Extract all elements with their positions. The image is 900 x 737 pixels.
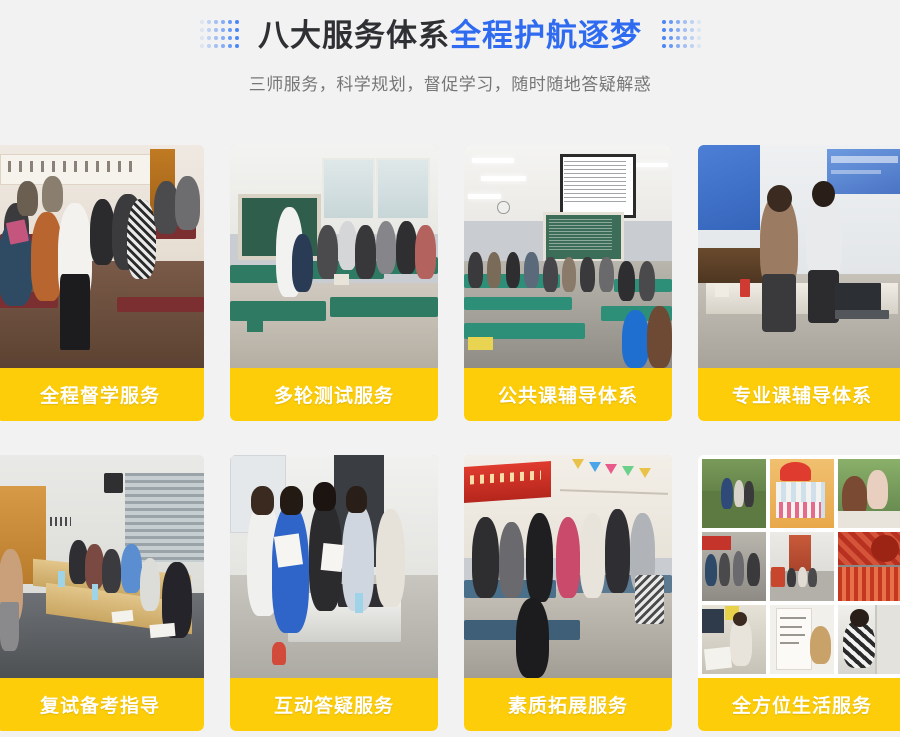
dot [662, 20, 666, 24]
service-card[interactable]: 素质拓展服务 [464, 455, 672, 731]
dot [228, 36, 232, 40]
card-label-text: 多轮测试服务 [274, 381, 394, 408]
card-photo-classroom-party-banner [464, 455, 672, 678]
dot [676, 36, 680, 40]
dot [221, 20, 225, 24]
dot [228, 28, 232, 32]
dot [690, 20, 694, 24]
dot [221, 28, 225, 32]
service-card[interactable]: 专业课辅导体系 [698, 145, 900, 421]
dot [207, 44, 211, 48]
dot [676, 20, 680, 24]
dot [235, 20, 239, 24]
card-label-text: 全程督学服务 [40, 381, 160, 408]
page-title-primary: 八大服务体系 [258, 18, 450, 53]
collage-tile [838, 605, 900, 674]
dot [200, 44, 204, 48]
card-label: 全方位生活服务 [698, 678, 900, 731]
card-label: 复试备考指导 [0, 678, 204, 731]
page-subtitle: 三师服务，科学规划，督促学习，随时随地答疑解惑 [0, 72, 900, 98]
dot [669, 44, 673, 48]
card-label-text: 全方位生活服务 [732, 691, 872, 718]
dot [676, 44, 680, 48]
dot [669, 28, 673, 32]
service-card[interactable]: 公共课辅导体系 [464, 145, 672, 421]
dot [214, 36, 218, 40]
dot [669, 36, 673, 40]
dot [214, 20, 218, 24]
card-photo-office-desk-consultation [698, 145, 900, 368]
dot [683, 36, 687, 40]
dot [235, 28, 239, 32]
dot [214, 28, 218, 32]
service-card[interactable]: 复试备考指导 [0, 455, 204, 731]
card-photo-students-interactive-qa [230, 455, 438, 678]
card-label: 素质拓展服务 [464, 678, 672, 731]
dot [697, 36, 701, 40]
collage-tile [838, 532, 900, 601]
collage-tile [838, 459, 900, 528]
service-card[interactable]: 全程督学服务 [0, 145, 204, 421]
section-header: 八大服务体系全程护航逐梦 三师服务，科学规划，督促学习，随时随地答疑解惑 [0, 0, 900, 130]
dot [207, 28, 211, 32]
dot [683, 20, 687, 24]
card-label: 多轮测试服务 [230, 368, 438, 421]
card-row-1: 全程督学服务 [0, 145, 900, 421]
card-label-text: 专业课辅导体系 [732, 381, 872, 408]
dot [200, 36, 204, 40]
collage-tile [770, 532, 834, 601]
dot [662, 44, 666, 48]
dot [690, 28, 694, 32]
card-photo-classroom-testing-session [230, 145, 438, 368]
card-label-text: 公共课辅导体系 [498, 381, 638, 408]
card-row-2: 复试备考指导 [0, 455, 900, 731]
collage-tile [770, 605, 834, 674]
dot [200, 20, 204, 24]
card-label: 互动答疑服务 [230, 678, 438, 731]
page-title-accent: 全程护航逐梦 [450, 18, 642, 53]
service-card[interactable]: 互动答疑服务 [230, 455, 438, 731]
dot [207, 36, 211, 40]
dot [697, 44, 701, 48]
dot [200, 28, 204, 32]
dot [221, 44, 225, 48]
card-label-text: 互动答疑服务 [274, 691, 394, 718]
dot [662, 36, 666, 40]
service-system-section: 八大服务体系全程护航逐梦 三师服务，科学规划，督促学习，随时随地答疑解惑 [0, 0, 900, 737]
service-card[interactable]: 多轮测试服务 [230, 145, 438, 421]
dot [690, 44, 694, 48]
dot [683, 44, 687, 48]
card-label-text: 复试备考指导 [40, 691, 160, 718]
collage-tile [702, 532, 766, 601]
dot-grid-icon-right [660, 18, 702, 52]
service-card[interactable]: 全方位生活服务 [698, 455, 900, 731]
dot [662, 28, 666, 32]
collage-tile [702, 605, 766, 674]
card-label: 公共课辅导体系 [464, 368, 672, 421]
dot [228, 44, 232, 48]
dot [697, 20, 701, 24]
dot [214, 44, 218, 48]
card-photo-classroom-study-supervision [0, 145, 204, 368]
dot [228, 20, 232, 24]
card-label-text: 素质拓展服务 [508, 691, 628, 718]
dot [669, 20, 673, 24]
card-photo-life-services-collage [698, 455, 900, 678]
title-row: 八大服务体系全程护航逐梦 [0, 9, 900, 61]
card-label: 全程督学服务 [0, 368, 204, 421]
card-photo-lecture-hall-projector [464, 145, 672, 368]
collage-tile [702, 459, 766, 528]
dot [690, 36, 694, 40]
dot [697, 28, 701, 32]
card-photo-interview-panel-room [0, 455, 204, 678]
dot [235, 44, 239, 48]
dot [683, 28, 687, 32]
dot-grid-icon-left [198, 18, 240, 52]
dot [235, 36, 239, 40]
service-card-grid: 全程督学服务 [0, 145, 900, 737]
dot [221, 36, 225, 40]
collage-tile [770, 459, 834, 528]
page-title: 八大服务体系全程护航逐梦 [258, 20, 642, 51]
card-label: 专业课辅导体系 [698, 368, 900, 421]
dot [207, 20, 211, 24]
dot [676, 28, 680, 32]
